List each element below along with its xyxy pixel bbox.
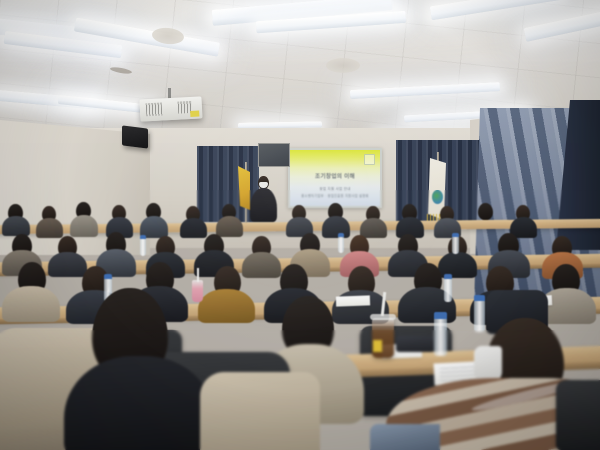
audience-body (198, 289, 255, 323)
iced-coffee-cup (372, 318, 394, 358)
face-mask (474, 346, 502, 382)
iced-drink-cup (192, 280, 203, 302)
bottle-cap (140, 235, 146, 239)
jeans (370, 424, 440, 450)
audience-body (242, 252, 281, 278)
office-chair (556, 380, 600, 450)
slide-footnote: 중소벤처기업부 · 창업진흥원 지원사업 설명회 (290, 193, 380, 198)
audience-body (216, 216, 243, 237)
audience-body (322, 216, 350, 238)
projector-label-sticker (190, 111, 199, 117)
audience-body (180, 218, 207, 238)
water-bottle (474, 300, 485, 332)
audience-body (48, 252, 87, 277)
ceiling-vent (326, 58, 360, 73)
projector-vent (146, 102, 163, 116)
slide-logo-icon (364, 154, 375, 165)
audience-body (70, 215, 98, 237)
coat-over-chair (200, 372, 320, 450)
water-bottle (434, 318, 447, 356)
water-bottle (452, 236, 459, 254)
slide-title: 조기창업의 이해 (290, 172, 380, 180)
water-bottle (338, 236, 344, 253)
audience-body (36, 218, 63, 238)
bottle-cap (444, 274, 452, 279)
pencil-case (396, 336, 434, 352)
presenter-body (250, 188, 277, 222)
bottle-cap (338, 233, 344, 237)
handout-paper (336, 295, 370, 306)
water-bottle (140, 238, 146, 256)
lecture-hall-photo: 조기창업의 이해 창업 지원 사업 안내 중소벤처기업부 · 창업진흥원 지원사… (0, 0, 600, 450)
bottle-cap (104, 274, 112, 279)
wall-speaker-left (122, 125, 148, 148)
bottle-cap (474, 295, 485, 301)
ceiling-projector (139, 96, 202, 121)
slide-subtitle: 창업 지원 사업 안내 (290, 186, 380, 191)
water-bottle (444, 278, 452, 302)
cup-label-band (373, 340, 382, 352)
audience-body (2, 286, 60, 322)
drink-straw (197, 268, 199, 282)
audience-body (360, 218, 387, 238)
projection-screen: 조기창업의 이해 창업 지원 사업 안내 중소벤처기업부 · 창업진흥원 지원사… (290, 150, 380, 206)
audience-body (2, 216, 30, 236)
bottle-cap (452, 233, 459, 237)
wall-display-monitor (258, 143, 290, 167)
bottle-cap (434, 312, 447, 319)
audience-body (472, 216, 500, 238)
flag-emblem-icon (432, 190, 443, 204)
